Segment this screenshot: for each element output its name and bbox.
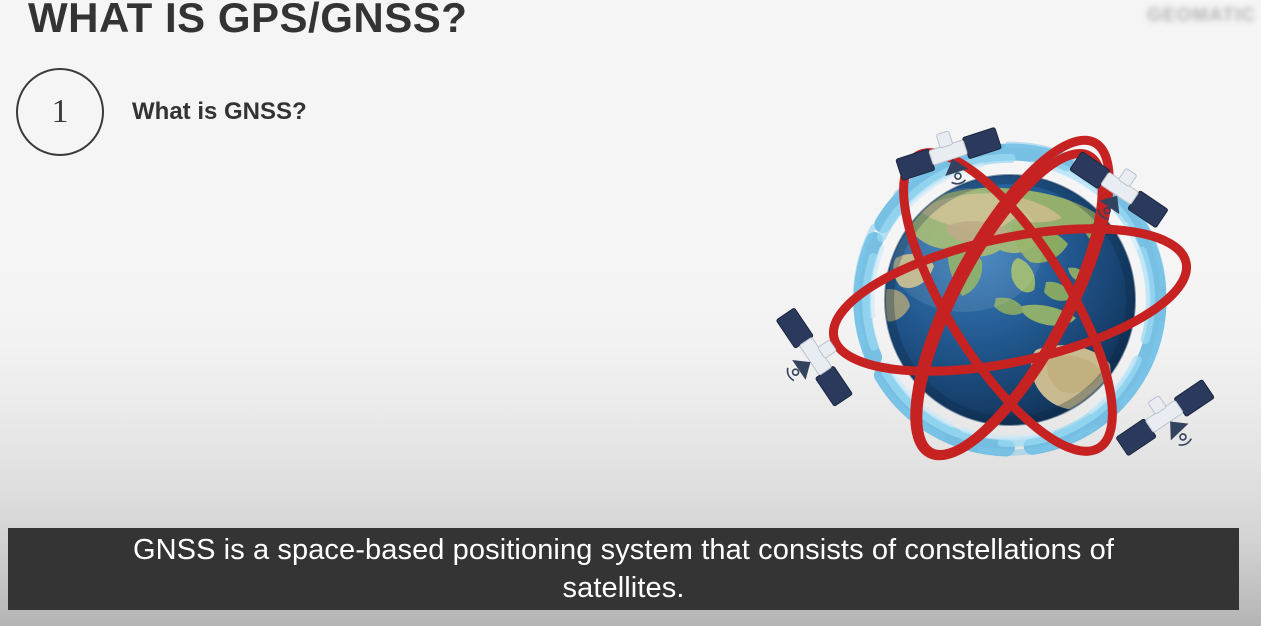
watermark-text: GEOMATICS xyxy=(1147,2,1257,30)
gnss-constellation-illustration xyxy=(750,100,1210,520)
agenda-item-1: 1 What is GNSS? xyxy=(16,68,307,156)
agenda-item-label: What is GNSS? xyxy=(132,98,307,126)
step-number-circle: 1 xyxy=(16,68,104,156)
page-title: WHAT IS GPS/GNSS? xyxy=(28,0,467,42)
satellite-left xyxy=(759,302,862,418)
watermark-logo: GEOMATICS xyxy=(1147,2,1257,30)
caption-text: GNSS is a space-based positioning system… xyxy=(68,531,1179,608)
step-number-label: 1 xyxy=(52,95,69,129)
caption-bar: GNSS is a space-based positioning system… xyxy=(8,528,1239,610)
slide-canvas: WHAT IS GPS/GNSS? GEOMATICS 1 What is GN… xyxy=(0,0,1261,626)
